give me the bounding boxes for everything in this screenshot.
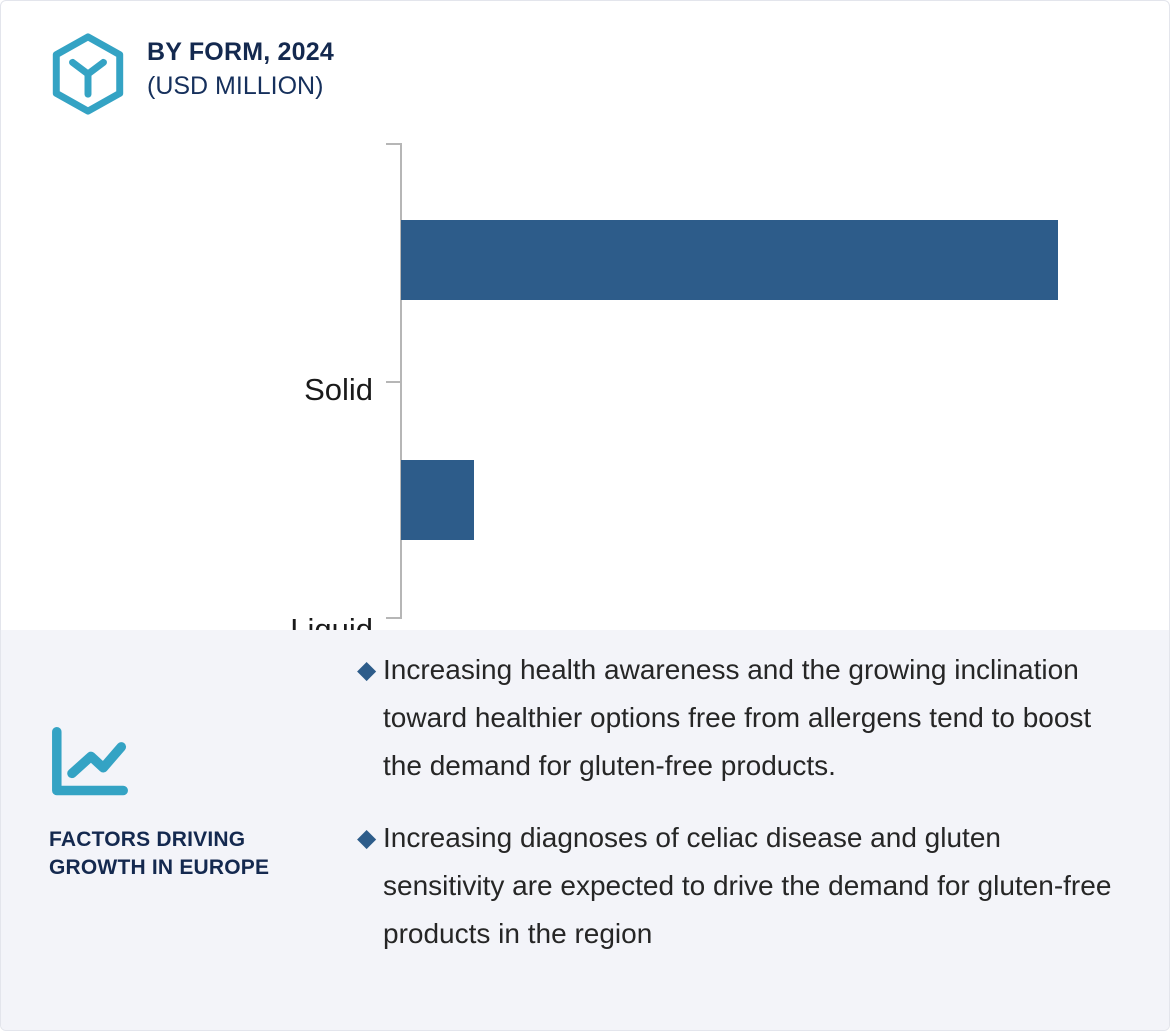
factors-panel: FACTORS DRIVING GROWTH IN EUROPE ◆ Incre… <box>1 630 1170 1031</box>
axis-tick-bottom <box>386 617 401 619</box>
bar-liquid <box>402 461 473 539</box>
list-item-text: Increasing diagnoses of celiac disease a… <box>383 814 1113 958</box>
plot-area <box>402 131 1114 629</box>
diamond-bullet-icon: ◆ <box>357 646 383 694</box>
list-item-text: Increasing health awareness and the grow… <box>383 646 1113 790</box>
line-chart-growth-icon <box>49 726 131 800</box>
bar-chart: Solid Liquid <box>1 131 1170 629</box>
factors-side: FACTORS DRIVING GROWTH IN EUROPE <box>1 630 357 1031</box>
list-item: ◆ Increasing diagnoses of celiac disease… <box>357 814 1113 958</box>
chart-header: BY FORM, 2024 (USD MILLION) <box>49 31 334 115</box>
category-label-solid: Solid <box>13 374 373 405</box>
axis-tick-middle <box>386 381 401 383</box>
page-title: BY FORM, 2024 <box>147 38 334 68</box>
page-subtitle: (USD MILLION) <box>147 71 334 101</box>
axis-tick-top <box>386 143 401 145</box>
diamond-bullet-icon: ◆ <box>357 814 383 862</box>
bar-solid <box>402 221 1057 299</box>
category-axis-labels: Solid Liquid <box>1 131 373 629</box>
hexagon-y-logo-icon <box>49 33 127 115</box>
factors-heading: FACTORS DRIVING GROWTH IN EUROPE <box>49 826 339 882</box>
infographic-card: BY FORM, 2024 (USD MILLION) Solid Liquid <box>0 0 1170 1031</box>
list-item: ◆ Increasing health awareness and the gr… <box>357 646 1113 790</box>
header-text-block: BY FORM, 2024 (USD MILLION) <box>147 31 334 101</box>
factors-bullet-list: ◆ Increasing health awareness and the gr… <box>357 630 1170 1031</box>
